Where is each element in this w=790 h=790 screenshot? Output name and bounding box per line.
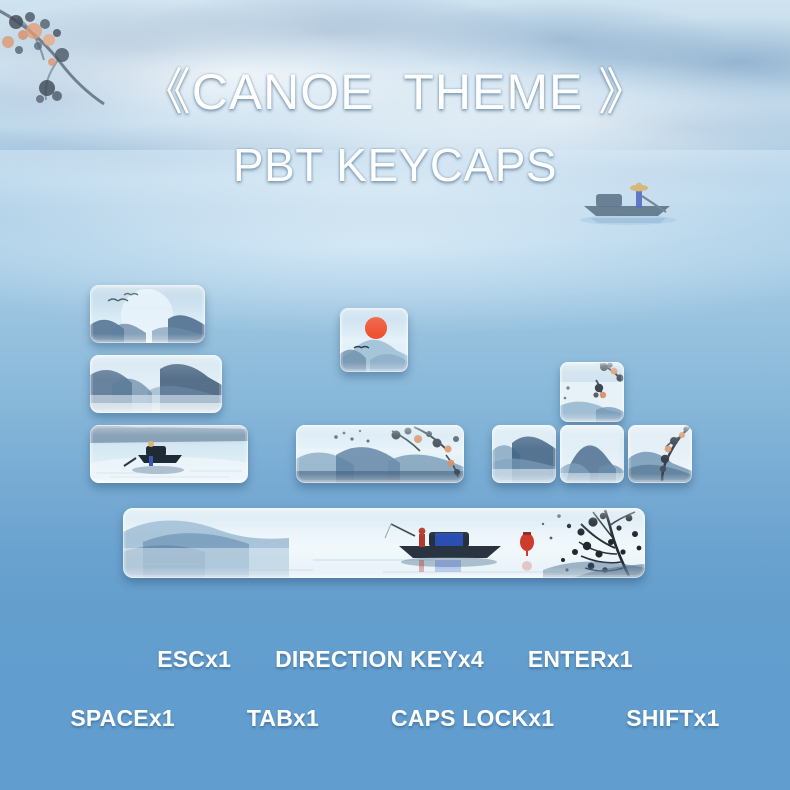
- arrow-right-keycap[interactable]: [628, 425, 692, 483]
- space-keycap-art: [123, 508, 645, 578]
- page-subtitle: PBT KEYCAPS: [0, 141, 790, 189]
- caps-lock-keycap-art: [90, 355, 222, 413]
- caption-direction-key: DIRECTION KEYx4: [275, 646, 484, 673]
- esc-keycap[interactable]: [340, 308, 408, 372]
- caption-row-2: SPACEx1 TABx1 CAPS LOCKx1 SHIFTx1: [0, 705, 790, 732]
- arrow-up-keycap-art: [560, 362, 624, 422]
- caption-space: SPACEx1: [70, 705, 175, 732]
- caption-row-1: ESCx1 DIRECTION KEYx4 ENTERx1: [0, 646, 790, 673]
- enter-keycap-art: [296, 425, 464, 483]
- shift-keycap[interactable]: [90, 425, 248, 483]
- tab-keycap-art: [90, 285, 205, 343]
- product-banner: 《CANOE THEME 》 PBT KEYCAPS: [0, 0, 790, 790]
- page-title: 《CANOE THEME 》: [0, 66, 790, 119]
- caps-lock-keycap[interactable]: [90, 355, 222, 413]
- caption-tab: TABx1: [247, 705, 319, 732]
- space-keycap[interactable]: [123, 508, 645, 578]
- arrow-right-keycap-art: [628, 425, 692, 483]
- caption-shift: SHIFTx1: [626, 705, 719, 732]
- enter-keycap[interactable]: [296, 425, 464, 483]
- arrow-down-keycap[interactable]: [560, 425, 624, 483]
- title-block: 《CANOE THEME 》 PBT KEYCAPS: [0, 66, 790, 189]
- arrow-down-keycap-art: [560, 425, 624, 483]
- esc-keycap-art: [340, 308, 408, 372]
- caption-enter: ENTERx1: [528, 646, 633, 673]
- arrow-left-keycap[interactable]: [492, 425, 556, 483]
- tab-keycap[interactable]: [90, 285, 205, 343]
- shift-keycap-art: [90, 425, 248, 483]
- arrow-up-keycap[interactable]: [560, 362, 624, 422]
- caption-caps-lock: CAPS LOCKx1: [391, 705, 554, 732]
- caption-esc: ESCx1: [157, 646, 231, 673]
- arrow-left-keycap-art: [492, 425, 556, 483]
